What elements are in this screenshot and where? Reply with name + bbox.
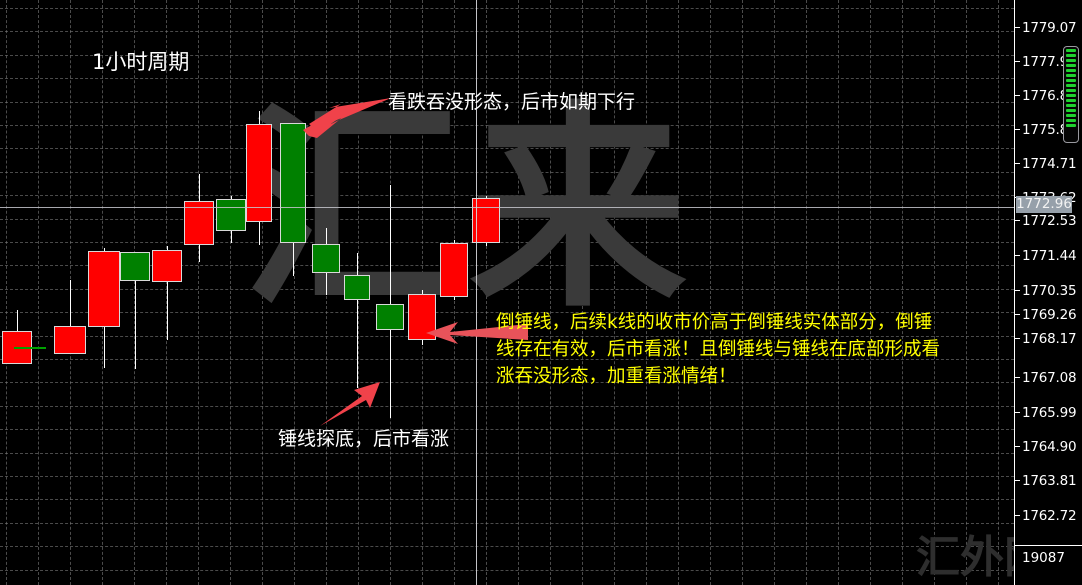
strength-segment: [1066, 59, 1076, 62]
note-line-2: 线存在有效，后市看涨！且倒锤线与锤线在底部形成看: [496, 337, 1014, 364]
period-label: 1小时周期: [92, 50, 189, 74]
candlestick: [152, 0, 182, 585]
axis-tick-mark: [1015, 412, 1020, 413]
axis-tick-mark: [1015, 515, 1020, 516]
strength-segment: [1066, 69, 1076, 72]
candlestick: [14, 0, 46, 585]
strength-segment: [1066, 49, 1076, 52]
grid-line-vertical: [806, 0, 807, 585]
strength-segment: [1066, 109, 1076, 112]
grid-line-vertical: [838, 0, 839, 585]
axis-tick-mark: [1015, 446, 1020, 447]
candle-body: [280, 123, 306, 243]
grid-line-vertical: [550, 0, 551, 585]
current-price-badge: 1772.96: [1016, 196, 1072, 213]
axis-tick-mark: [1015, 338, 1020, 339]
candlestick: [216, 0, 246, 585]
candle-wick: [357, 253, 358, 388]
axis-tick-label: 1768.17: [1022, 331, 1076, 347]
candlestick-plot-area[interactable]: 汇来 1小时周期 看跌吞没形态，后市如期下行 锤线探底，后市看涨 倒锤线，后续k…: [0, 0, 1014, 585]
strength-segment: [1066, 99, 1076, 102]
candlestick: [120, 0, 150, 585]
bearish-engulfing-annotation: 看跌吞没形态，后市如期下行: [388, 92, 635, 114]
candlestick: [280, 0, 306, 585]
candlestick: [246, 0, 272, 585]
candlestick: [184, 0, 214, 585]
candle-body: [120, 252, 150, 281]
hammer-bottom-annotation: 锤线探底，后市看涨: [278, 429, 449, 451]
strength-segment: [1066, 94, 1076, 97]
grid-line-vertical: [710, 0, 711, 585]
strength-gauge[interactable]: [1063, 46, 1079, 143]
grid-line-vertical: [742, 0, 743, 585]
axis-tick-mark: [1015, 480, 1020, 481]
inverted-hammer-note: 倒锤线，后续k线的收市价高于倒锤线实体部分，倒锤 线存在有效，后市看涨！且倒锤线…: [496, 310, 1014, 390]
candle-body: [344, 275, 370, 300]
axis-tick-mark: [1015, 377, 1020, 378]
axis-tick-label: 1767.08: [1022, 370, 1076, 386]
candle-body: [88, 251, 120, 327]
grid-line-vertical: [646, 0, 647, 585]
strength-segment: [1066, 79, 1076, 82]
candle-wick: [390, 185, 391, 418]
grid-line-vertical: [582, 0, 583, 585]
candlestick: [312, 0, 340, 585]
candle-body: [408, 294, 436, 340]
note-line-3: 涨吞没形态，加重看涨情绪！: [496, 364, 1014, 391]
axis-tick-label: 1764.90: [1022, 439, 1076, 455]
chart-application: 汇来 1小时周期 看跌吞没形态，后市如期下行 锤线探底，后市看涨 倒锤线，后续k…: [0, 0, 1082, 585]
axis-tick-mark: [1015, 163, 1020, 164]
candle-body: [216, 199, 246, 231]
axis-tick-label: 1762.72: [1022, 508, 1076, 524]
current-price-line: [0, 207, 1014, 208]
candle-body: [54, 326, 86, 354]
strength-segment: [1066, 124, 1076, 127]
candlestick: [344, 0, 370, 585]
axis-tick-mark: [1015, 255, 1020, 256]
axis-tick-label: 1770.35: [1022, 283, 1076, 299]
candle-body: [312, 244, 340, 273]
axis-bottom-value: 19087: [1022, 550, 1065, 566]
grid-line-vertical: [902, 0, 903, 585]
grid-line-vertical: [678, 0, 679, 585]
axis-tick-label: 1771.44: [1022, 248, 1076, 264]
crosshair-vertical: [476, 0, 477, 585]
axis-tick-mark: [1015, 61, 1020, 62]
grid-line-vertical: [998, 0, 999, 585]
candlestick: [408, 0, 436, 585]
strength-segment: [1066, 89, 1076, 92]
candle-body: [376, 304, 404, 330]
strength-segment: [1066, 104, 1076, 107]
note-line-1: 倒锤线，后续k线的收市价高于倒锤线实体部分，倒锤: [496, 310, 1014, 337]
axis-tick-mark: [1015, 95, 1020, 96]
strength-segment: [1066, 64, 1076, 67]
candle-body: [440, 243, 468, 297]
axis-tick-label: 1779.07: [1022, 20, 1076, 36]
axis-tick-mark: [1015, 220, 1020, 221]
axis-divider: [1015, 545, 1082, 546]
candle-body: [14, 347, 46, 349]
strength-segment: [1066, 114, 1076, 117]
candle-body: [152, 250, 182, 282]
strength-segment: [1066, 74, 1076, 77]
candlestick: [88, 0, 120, 585]
candlestick: [376, 0, 404, 585]
axis-tick-label: 1763.81: [1022, 473, 1076, 489]
grid-line-vertical: [774, 0, 775, 585]
candlestick: [54, 0, 86, 585]
axis-tick-label: 1772.53: [1022, 213, 1076, 229]
watermark-main: 汇来: [243, 100, 695, 318]
grid-line-vertical: [966, 0, 967, 585]
grid-line-vertical: [518, 0, 519, 585]
axis-tick-mark: [1015, 314, 1020, 315]
axis-tick-label: 1765.99: [1022, 405, 1076, 421]
axis-tick-mark: [1015, 290, 1020, 291]
strength-segment: [1066, 84, 1076, 87]
strength-segment: [1066, 54, 1076, 57]
grid-line-vertical: [934, 0, 935, 585]
strength-segment: [1066, 119, 1076, 122]
axis-tick-label: 1769.26: [1022, 307, 1076, 323]
grid-line-vertical: [870, 0, 871, 585]
axis-tick-mark: [1015, 27, 1020, 28]
axis-tick-label: 1774.71: [1022, 156, 1076, 172]
grid-line-vertical: [614, 0, 615, 585]
candlestick: [440, 0, 468, 585]
axis-tick-mark: [1015, 129, 1020, 130]
